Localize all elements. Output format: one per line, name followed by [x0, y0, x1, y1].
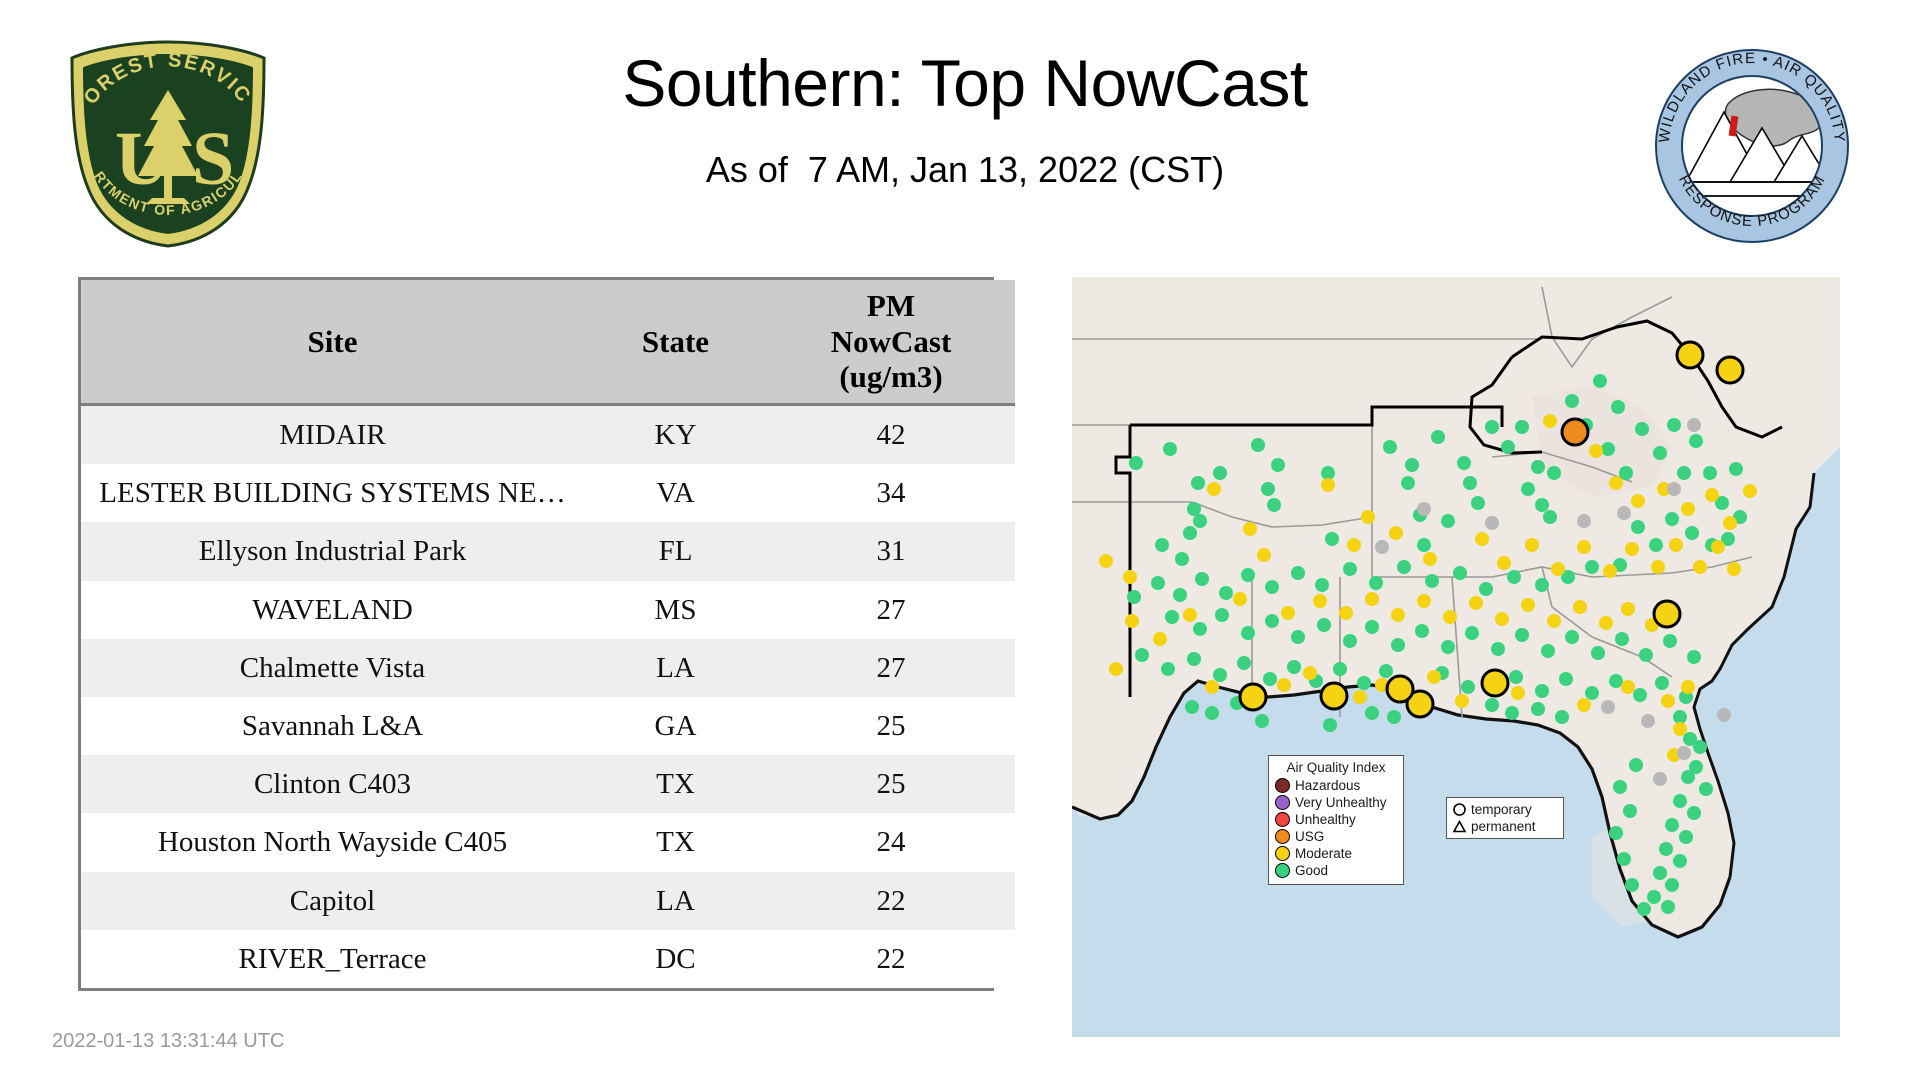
aqi-legend-item: Moderate: [1275, 845, 1397, 862]
air-quality-map[interactable]: Air Quality Index Hazardous Very Unhealt…: [1072, 277, 1840, 1037]
cell-site: Savannah L&A: [81, 697, 584, 755]
table-row: Savannah L&A GA 25: [81, 697, 1015, 755]
table-row: WAVELAND MS 27: [81, 581, 1015, 639]
aqi-swatch-good: [1275, 863, 1290, 878]
cell-state: LA: [584, 639, 767, 697]
cell-state: TX: [584, 755, 767, 813]
cell-pm: 27: [767, 581, 1015, 639]
cell-site: Clinton C403: [81, 755, 584, 813]
aqi-legend-item: Very Unhealthy: [1275, 794, 1397, 811]
cell-pm: 25: [767, 697, 1015, 755]
title-block: Southern: Top NowCast As of 7 AM, Jan 13…: [400, 48, 1530, 191]
aqi-legend-item: Unhealthy: [1275, 811, 1397, 828]
table-row: Ellyson Industrial Park FL 31: [81, 522, 1015, 580]
aqi-legend-item: Hazardous: [1275, 777, 1397, 794]
site-type-label-permanent: permanent: [1471, 819, 1536, 834]
site-type-label-temporary: temporary: [1471, 802, 1532, 817]
aqi-legend: Air Quality Index Hazardous Very Unhealt…: [1268, 755, 1404, 885]
site-type-item-temporary: temporary: [1452, 801, 1558, 818]
aqi-swatch-moderate: [1275, 846, 1290, 861]
aqi-swatch-hazardous: [1275, 778, 1290, 793]
aqi-legend-item: Good: [1275, 862, 1397, 879]
cell-pm: 42: [767, 404, 1015, 464]
highlighted-marker-midair: [1562, 419, 1588, 445]
cell-pm: 24: [767, 813, 1015, 871]
aqi-label-unhealthy: Unhealthy: [1295, 812, 1356, 827]
aqi-swatch-unhealthy: [1275, 812, 1290, 827]
cell-site: Ellyson Industrial Park: [81, 522, 584, 580]
forest-service-logo: FOREST SERVICE U S DEPARTMENT OF AGRICUL…: [58, 36, 278, 251]
cell-pm: 31: [767, 522, 1015, 580]
column-header-site: Site: [81, 280, 584, 404]
aqi-label-usg: USG: [1295, 829, 1324, 844]
highlighted-marker-savannah-l-and-a: [1654, 601, 1680, 627]
aqi-swatch-very-unhealthy: [1275, 795, 1290, 810]
top-nowcast-table: Site State PM NowCast (ug/m3) MIDAIR KY …: [81, 280, 1015, 988]
table-body: MIDAIR KY 42 LESTER BUILDING SYSTEMS NE……: [81, 404, 1015, 988]
aqi-label-hazardous: Hazardous: [1295, 778, 1360, 793]
table-row: Houston North Wayside C405 TX 24: [81, 813, 1015, 871]
column-header-state: State: [584, 280, 767, 404]
cell-site: Houston North Wayside C405: [81, 813, 584, 871]
cell-state: MS: [584, 581, 767, 639]
cell-site: LESTER BUILDING SYSTEMS NE…: [81, 464, 584, 522]
site-type-legend: temporary permanent: [1446, 797, 1564, 839]
highlighted-marker-lester-building-systems: [1677, 342, 1703, 368]
pm-header-line-1: PM: [771, 288, 1011, 324]
highlighted-marker-capitol: [1321, 683, 1347, 709]
forest-service-shield-icon: FOREST SERVICE U S DEPARTMENT OF AGRICUL…: [58, 36, 278, 251]
aqi-swatch-usg: [1275, 829, 1290, 844]
circle-icon: [1452, 802, 1467, 817]
cell-state: FL: [584, 522, 767, 580]
map-canvas[interactable]: [1072, 277, 1840, 1037]
page-header: FOREST SERVICE U S DEPARTMENT OF AGRICUL…: [0, 0, 1920, 265]
nowcast-table-container: Site State PM NowCast (ug/m3) MIDAIR KY …: [78, 277, 994, 991]
table-row: Clinton C403 TX 25: [81, 755, 1015, 813]
aqi-legend-title: Air Quality Index: [1275, 760, 1397, 775]
triangle-icon: [1452, 819, 1467, 834]
cell-state: KY: [584, 404, 767, 464]
cell-pm: 34: [767, 464, 1015, 522]
column-header-pm-nowcast: PM NowCast (ug/m3): [767, 280, 1015, 404]
cell-site: Capitol: [81, 872, 584, 930]
aqi-label-moderate: Moderate: [1295, 846, 1352, 861]
cell-state: TX: [584, 813, 767, 871]
cell-pm: 22: [767, 872, 1015, 930]
page-title: Southern: Top NowCast: [400, 48, 1530, 119]
highlighted-marker-chalmette-vista: [1387, 676, 1413, 702]
table-row: Chalmette Vista LA 27: [81, 639, 1015, 697]
cell-state: LA: [584, 872, 767, 930]
cell-state: DC: [584, 930, 767, 988]
pm-header-line-3: (ug/m3): [771, 359, 1011, 395]
cell-state: GA: [584, 697, 767, 755]
cell-site: MIDAIR: [81, 404, 584, 464]
highlighted-marker-ellyson-industrial-park: [1482, 670, 1508, 696]
cell-pm: 27: [767, 639, 1015, 697]
highlighted-marker-river-terrace: [1717, 357, 1743, 383]
table-header-row: Site State PM NowCast (ug/m3): [81, 280, 1015, 404]
aqi-label-very-unhealthy: Very Unhealthy: [1295, 795, 1387, 810]
wfaqrp-circular-icon: WILDLAND FIRE • AIR QUALITY RESPONSE PRO…: [1650, 46, 1855, 246]
highlighted-marker-houston-north-wayside: [1240, 684, 1266, 710]
aqi-legend-item: USG: [1275, 828, 1397, 845]
page-subtitle: As of 7 AM, Jan 13, 2022 (CST): [400, 149, 1530, 191]
cell-site: WAVELAND: [81, 581, 584, 639]
table-row: MIDAIR KY 42: [81, 404, 1015, 464]
cell-pm: 25: [767, 755, 1015, 813]
cell-site: RIVER_Terrace: [81, 930, 584, 988]
cell-site: Chalmette Vista: [81, 639, 584, 697]
footer-timestamp: 2022-01-13 13:31:44 UTC: [52, 1030, 284, 1053]
cell-state: VA: [584, 464, 767, 522]
table-row: LESTER BUILDING SYSTEMS NE… VA 34: [81, 464, 1015, 522]
wfaqrp-logo: WILDLAND FIRE • AIR QUALITY RESPONSE PRO…: [1650, 46, 1855, 246]
cell-pm: 22: [767, 930, 1015, 988]
table-row: RIVER_Terrace DC 22: [81, 930, 1015, 988]
site-type-item-permanent: permanent: [1452, 818, 1558, 835]
table-row: Capitol LA 22: [81, 872, 1015, 930]
table-header: Site State PM NowCast (ug/m3): [81, 280, 1015, 404]
pm-header-line-2: NowCast: [771, 324, 1011, 360]
aqi-label-good: Good: [1295, 863, 1328, 878]
